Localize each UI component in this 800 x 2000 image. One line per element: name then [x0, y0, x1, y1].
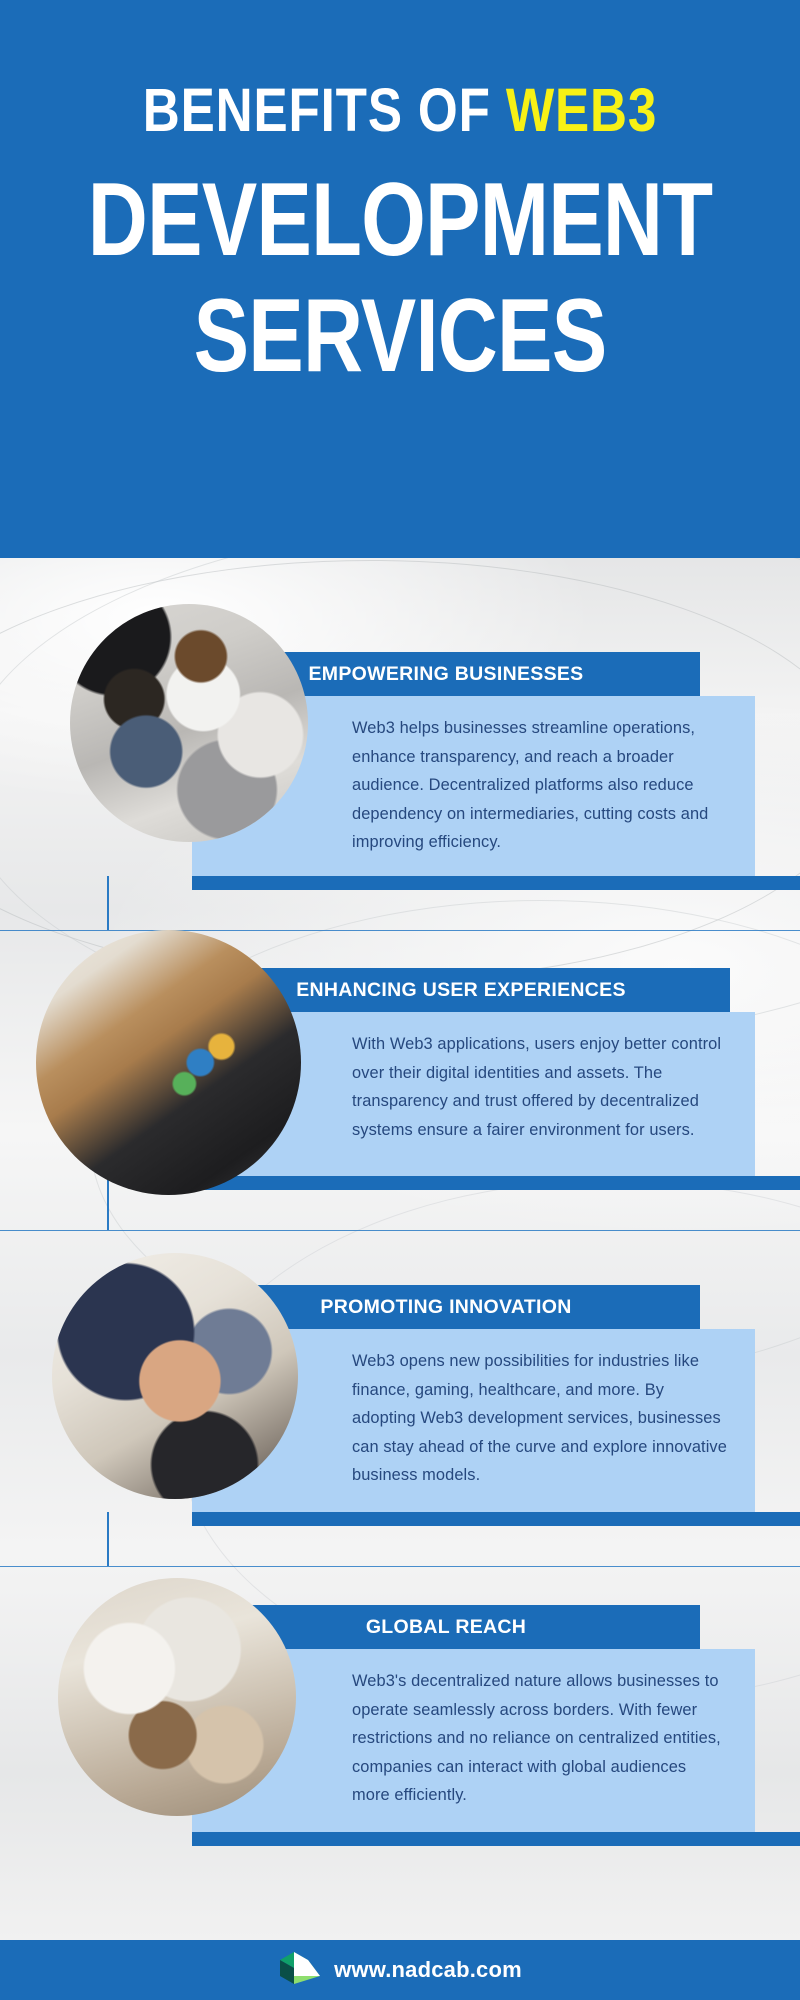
card-1-connector	[107, 876, 109, 930]
footer-website-url[interactable]: www.nadcab.com	[334, 1957, 522, 1983]
card-2-body-text: With Web3 applications, users enjoy bett…	[352, 1030, 725, 1144]
card-3-body-text: Web3 opens new possibilities for industr…	[352, 1347, 727, 1490]
card-3-image	[52, 1253, 298, 1499]
card-3-accent-bar	[192, 1512, 800, 1526]
footer-bar: www.nadcab.com	[0, 1940, 800, 2000]
meeting-room-photo	[58, 1578, 296, 1816]
hero-title-line-1: BENEFITS OF WEB3	[64, 0, 736, 142]
hero-title-line-3: SERVICES	[80, 272, 720, 388]
hero-banner: BENEFITS OF WEB3 DEVELOPMENT SERVICES	[0, 0, 800, 558]
nadcab-cube-logo	[278, 1950, 322, 1990]
card-3-connector	[107, 1512, 109, 1566]
hero-title-prefix: BENEFITS OF	[143, 76, 506, 144]
card-4-body-text: Web3's decentralized nature allows busin…	[352, 1667, 721, 1810]
tablet-charts-desk-photo	[36, 930, 301, 1195]
card-3-divider-rule	[0, 1566, 800, 1567]
hero-title-line-2: DEVELOPMENT	[80, 142, 720, 272]
infographic-page: BENEFITS OF WEB3 DEVELOPMENT SERVICES EM…	[0, 0, 800, 2000]
card-4-accent-bar	[192, 1832, 800, 1846]
card-1-accent-bar	[192, 876, 800, 890]
handshake-photo	[52, 1253, 298, 1499]
card-2-image	[36, 930, 301, 1195]
card-1-body-text: Web3 helps businesses streamline operati…	[352, 714, 713, 857]
card-1-image	[70, 604, 308, 842]
hero-title-highlight: WEB3	[506, 76, 657, 144]
card-2-divider-rule	[0, 1230, 800, 1231]
team-around-laptop-photo	[70, 604, 308, 842]
card-4-image	[58, 1578, 296, 1816]
